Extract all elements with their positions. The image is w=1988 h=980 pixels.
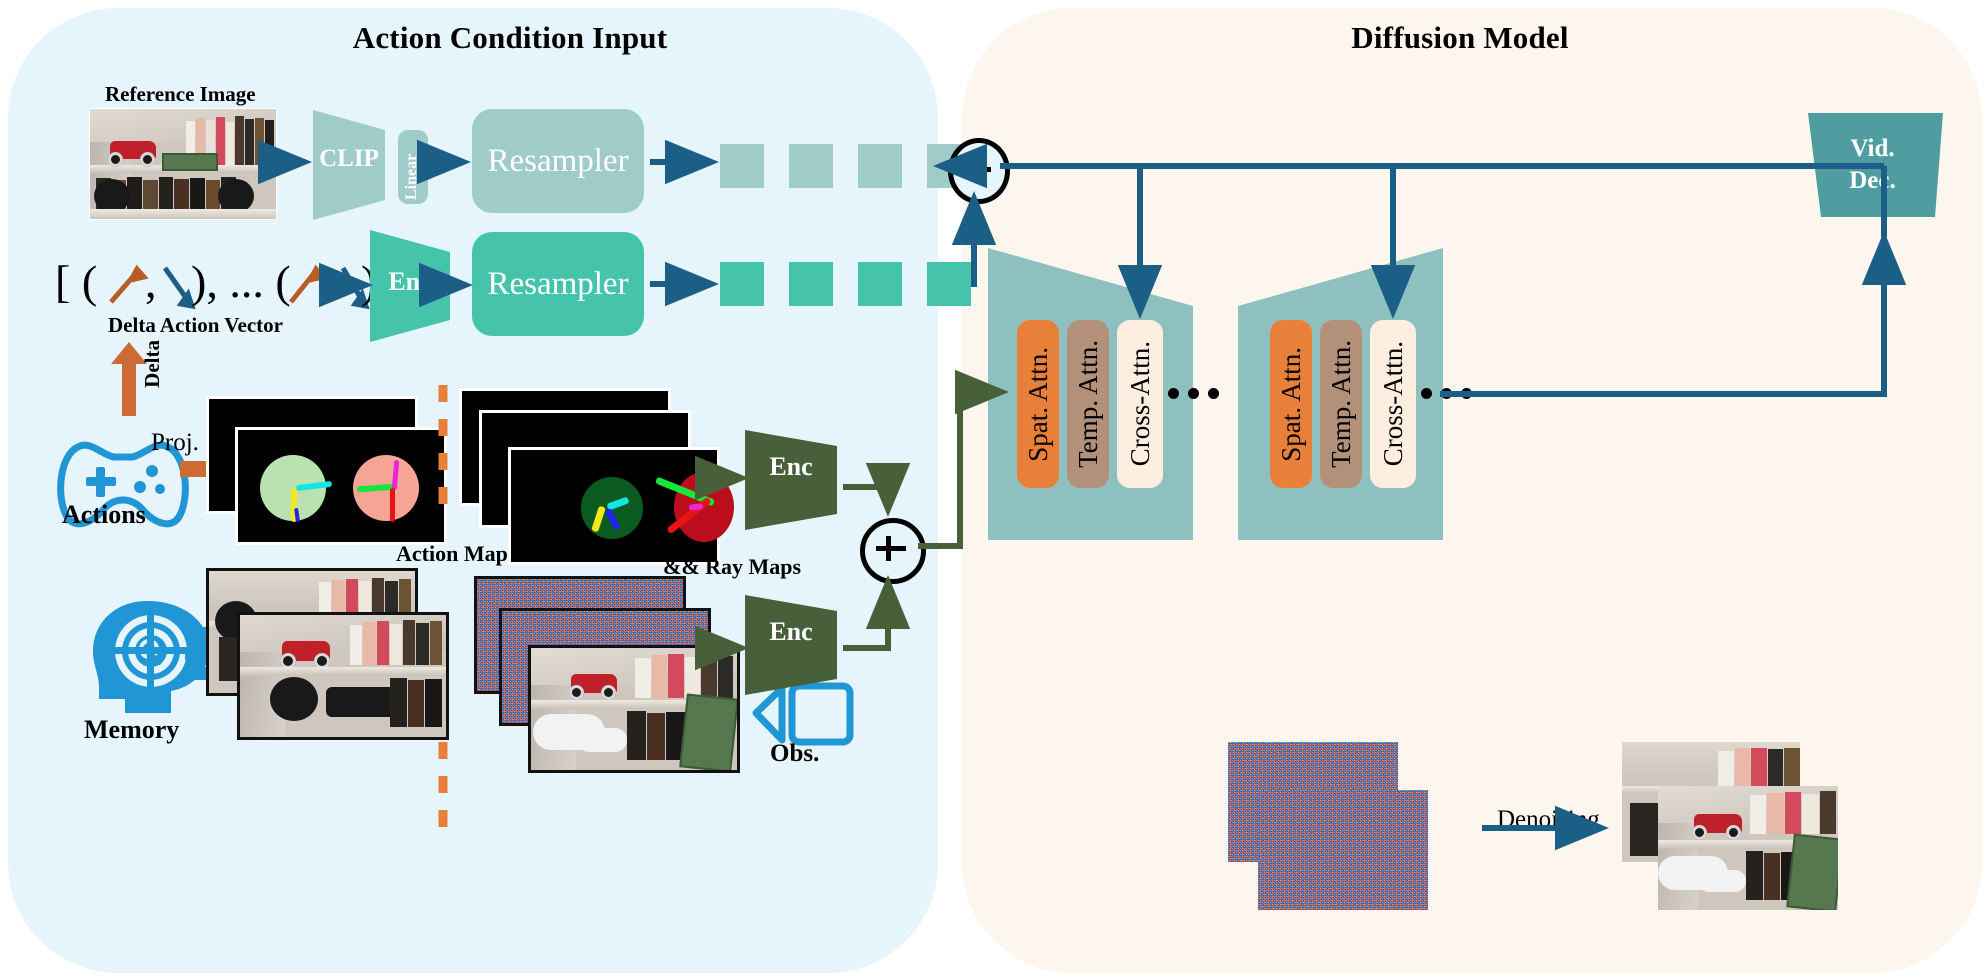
vid-dec-label-line1: Vid.	[1795, 133, 1950, 165]
delta-action-vector-expression: [ ( , ), ... ( , )]	[55, 250, 385, 316]
action-token-3	[858, 262, 902, 306]
diagram-canvas: Action Condition Input Diffusion Model R…	[0, 0, 1988, 980]
vid-dec-label-line2: Dec.	[1795, 165, 1950, 197]
plus-node-latents	[860, 518, 926, 584]
action-map-front	[235, 427, 447, 545]
svg-text:), ... (: ), ... (	[191, 256, 291, 307]
cross-attn-label-1: Cross-Attn.	[1125, 341, 1156, 466]
svg-text:[ (: [ (	[55, 256, 97, 307]
actions-label: Actions	[62, 500, 146, 530]
delta-action-vector-label: Delta Action Vector	[108, 313, 283, 338]
image-token-3	[858, 144, 902, 188]
unet-block-2-ellipsis	[1421, 388, 1472, 399]
memory-photo-front	[237, 612, 449, 740]
cross-attn-block-2: Cross-Attn.	[1370, 320, 1416, 488]
delta-arrow-label: Delta	[140, 340, 165, 388]
spat-attn-label-2: Spat. Attn.	[1276, 347, 1307, 462]
temp-attn-block-1: Temp. Attn.	[1067, 320, 1109, 488]
clip-label: CLIP	[313, 145, 385, 173]
temp-attn-label-2: Temp. Attn.	[1326, 340, 1357, 468]
resampler-action-box: Resampler	[472, 232, 644, 336]
temp-attn-block-2: Temp. Attn.	[1320, 320, 1362, 488]
reference-image-photo	[89, 108, 277, 220]
action-token-1	[720, 262, 764, 306]
denoise-input-front	[1258, 790, 1428, 910]
image-token-2	[789, 144, 833, 188]
spat-attn-block-2: Spat. Attn.	[1270, 320, 1312, 488]
temp-attn-label-1: Temp. Attn.	[1073, 340, 1104, 468]
panel-title-diffusion-model: Diffusion Model	[1180, 20, 1740, 56]
action-maps-label: Action Maps	[396, 541, 516, 567]
plus-node-conditioning	[948, 138, 1010, 204]
divider-dashed-top	[437, 385, 451, 515]
noisy-obs-front	[528, 645, 740, 773]
action-token-4	[927, 262, 971, 306]
denoise-output-front	[1658, 786, 1838, 910]
action-token-2	[789, 262, 833, 306]
unet-block-1-ellipsis	[1168, 388, 1219, 399]
enc-obs-label: Enc	[745, 617, 837, 647]
memory-label: Memory	[84, 715, 179, 745]
resampler-image-box: Resampler	[472, 109, 644, 213]
spat-attn-label-1: Spat. Attn.	[1023, 347, 1054, 462]
brain-memory-icon	[85, 595, 217, 715]
cross-attn-block-1: Cross-Attn.	[1117, 320, 1163, 488]
spat-attn-block-1: Spat. Attn.	[1017, 320, 1059, 488]
panel-title-action-condition: Action Condition Input	[230, 20, 790, 56]
ray-map-front	[508, 447, 720, 565]
denoising-label: Denoising	[1497, 806, 1600, 834]
enc-action-label: Enc	[370, 267, 450, 297]
cross-attn-label-2: Cross-Attn.	[1378, 341, 1409, 466]
obs-label: Obs.	[770, 740, 819, 768]
image-token-1	[720, 144, 764, 188]
linear-label: Linear	[403, 138, 421, 200]
reference-image-label: Reference Image	[105, 82, 256, 107]
delta-vector-glyphs: [ ( , ), ... ( , )]	[55, 250, 385, 316]
enc-maps-label: Enc	[745, 452, 837, 482]
svg-text:,: ,	[321, 256, 333, 307]
svg-text:,: ,	[145, 256, 157, 307]
